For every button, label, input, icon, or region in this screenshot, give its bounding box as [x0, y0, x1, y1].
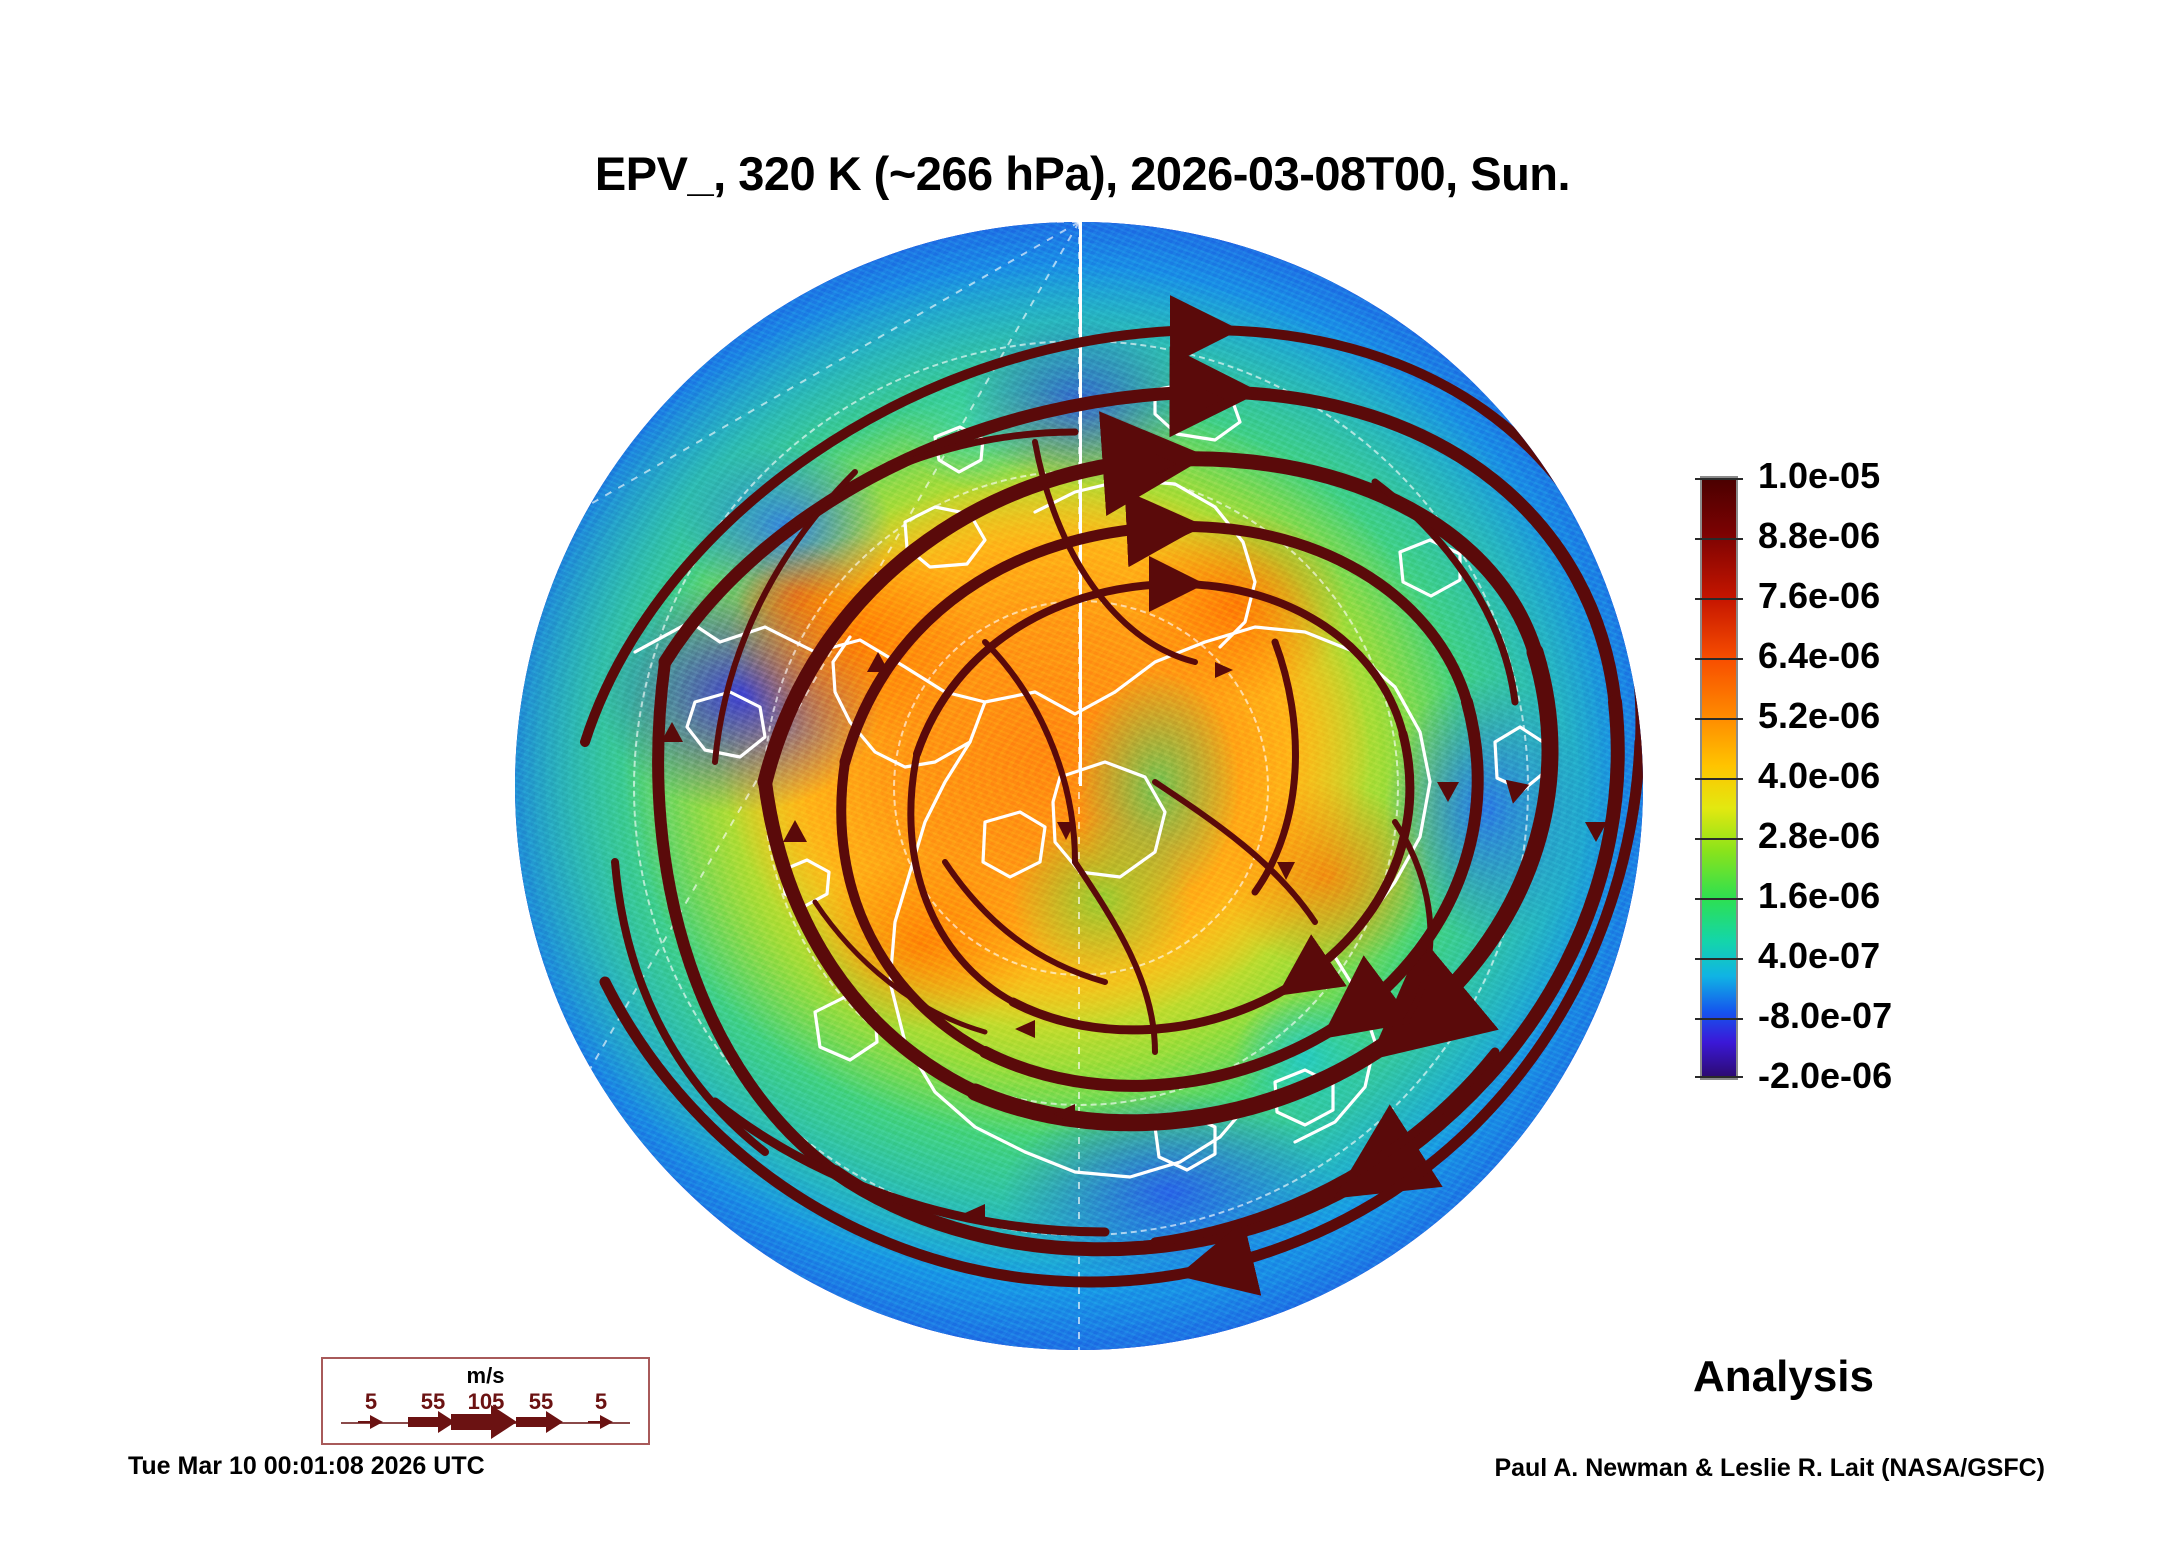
globe-disc [515, 222, 1643, 1350]
colorbar-tick-label: 7.6e-06 [1758, 575, 1880, 617]
colorbar-tick-label: 4.0e-06 [1758, 755, 1880, 797]
analysis-label: Analysis [1693, 1352, 1874, 1402]
wind-arrow-icon [586, 1411, 616, 1433]
colorbar-tick-label: -2.0e-06 [1758, 1055, 1892, 1097]
colorbar-tick-label: 8.8e-06 [1758, 515, 1880, 557]
wind-arrow-icon [516, 1409, 566, 1435]
wind-arrow-icon [451, 1403, 521, 1441]
colorbar-tick-label: 1.6e-06 [1758, 875, 1880, 917]
colorbar-tick-label: -8.0e-07 [1758, 995, 1892, 1037]
author-credit: Paul A. Newman & Leslie R. Lait (NASA/GS… [1494, 1454, 2045, 1483]
colorbar-tick-label: 5.2e-06 [1758, 695, 1880, 737]
polar-map [515, 222, 1643, 1350]
wind-speed-legend: m/s 5 55 105 55 5 [321, 1357, 650, 1445]
page-title: EPV_, 320 K (~266 hPa), 2026-03-08T00, S… [0, 146, 2165, 201]
colorbar: 1.0e-05 8.8e-06 7.6e-06 6.4e-06 5.2e-06 … [1700, 476, 1738, 1080]
globe-rim-shading [515, 222, 1643, 1350]
colorbar-gradient [1700, 476, 1738, 1080]
colorbar-tick-label: 6.4e-06 [1758, 635, 1880, 677]
colorbar-tick-label: 1.0e-05 [1758, 455, 1880, 497]
colorbar-tick-label: 4.0e-07 [1758, 935, 1880, 977]
wind-legend-unit: m/s [323, 1363, 648, 1389]
wind-arrow-icon [356, 1411, 386, 1433]
generation-timestamp: Tue Mar 10 00:01:08 2026 UTC [128, 1452, 485, 1481]
colorbar-tick-label: 2.8e-06 [1758, 815, 1880, 857]
